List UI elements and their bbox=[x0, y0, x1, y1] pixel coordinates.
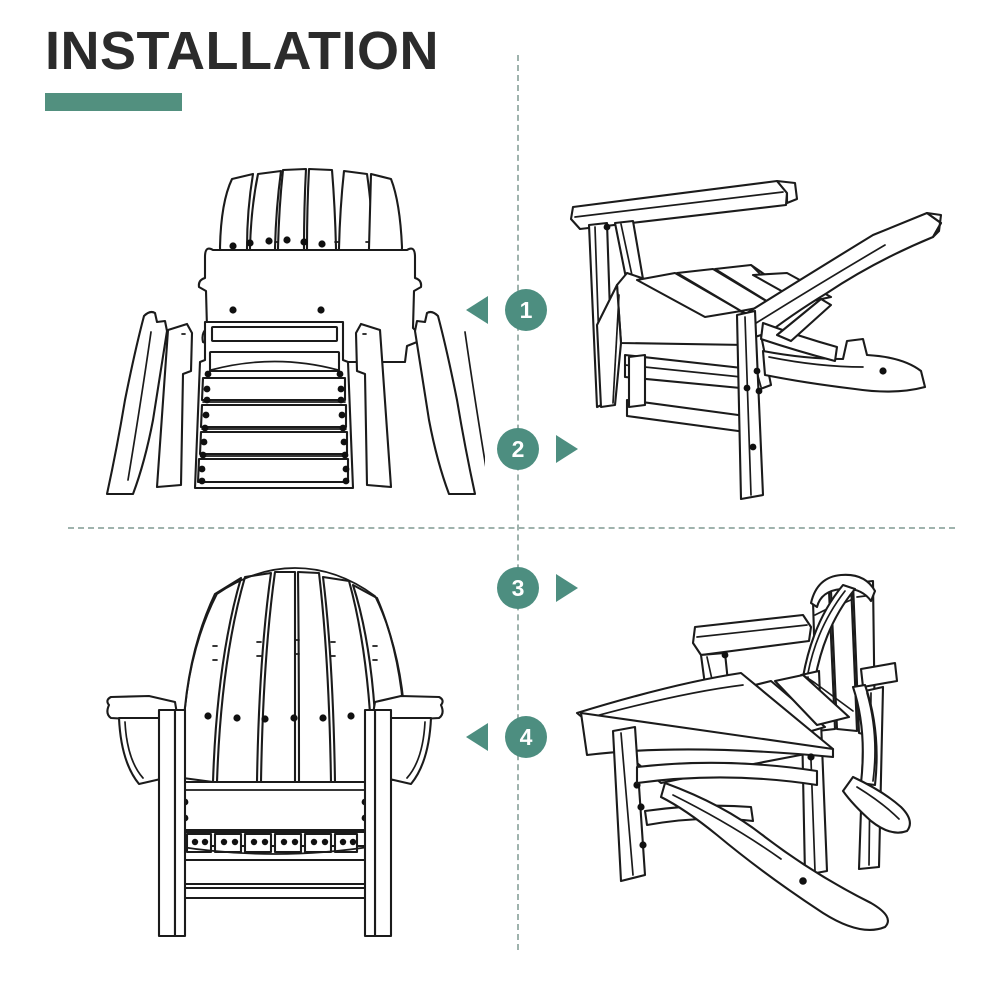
vertical-dashed-divider bbox=[517, 55, 519, 950]
left-armrest bbox=[571, 181, 797, 229]
page-title: INSTALLATION bbox=[45, 24, 565, 78]
illustration-chair-assembled-front bbox=[105, 550, 445, 950]
illustration-chair-exploded-parts bbox=[95, 150, 485, 515]
seat-frame-and-slats bbox=[195, 322, 353, 488]
step-number-badge: 2 bbox=[497, 428, 539, 470]
header: INSTALLATION bbox=[45, 24, 565, 111]
seat-and-apron bbox=[173, 782, 377, 830]
horizontal-dashed-divider bbox=[68, 527, 955, 529]
left-side-leg-pieces bbox=[107, 312, 192, 494]
illustration-chair-assembled-rear-quarter bbox=[565, 545, 965, 945]
right-side-leg-pieces bbox=[356, 312, 485, 494]
title-underline-rule bbox=[45, 93, 182, 111]
seat-slat-band bbox=[173, 832, 377, 854]
illustration-chair-frame-perspective bbox=[555, 175, 955, 510]
step-number-badge: 4 bbox=[505, 716, 547, 758]
step-number-badge: 1 bbox=[505, 289, 547, 331]
step-number-badge: 3 bbox=[497, 567, 539, 609]
arrow-left-icon bbox=[466, 723, 488, 751]
lower-stretcher-rails bbox=[173, 860, 377, 898]
installation-diagram-page: INSTALLATION 1 2 3 4 bbox=[0, 0, 1000, 1000]
